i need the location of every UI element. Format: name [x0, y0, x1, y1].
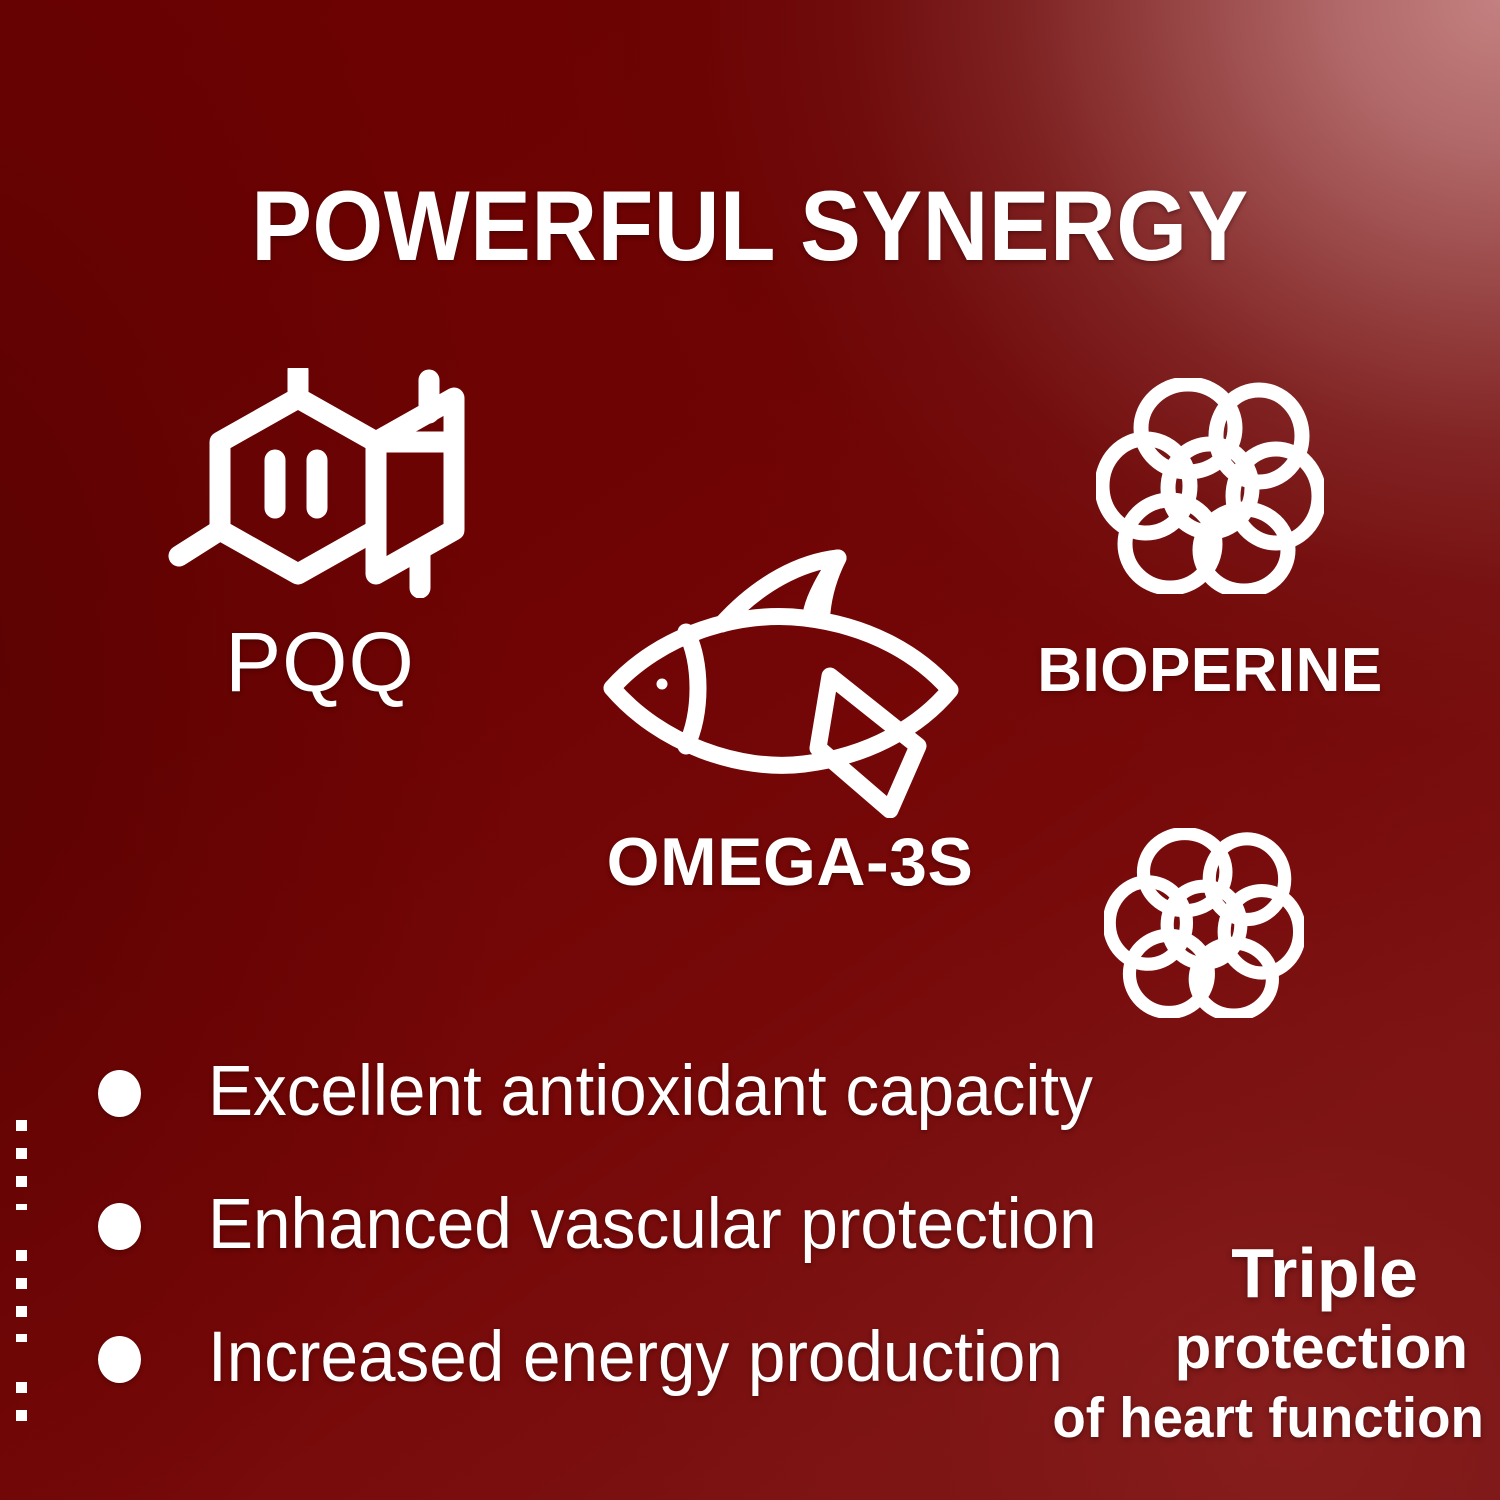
bullet-connector-dotted-line: [16, 1382, 27, 1438]
benefit-text: Enhanced vascular protection: [208, 1187, 1097, 1264]
bullet-dot-icon: [98, 1203, 141, 1250]
ingredient-pqq: PQQ: [120, 368, 520, 704]
benefit-text: Increased energy production: [208, 1320, 1063, 1397]
page-title: POWERFUL SYNERGY: [60, 176, 1440, 275]
benefits-list: Excellent antioxidant capacity Enhanced …: [98, 1042, 1158, 1441]
list-item: Excellent antioxidant capacity: [98, 1042, 1158, 1175]
list-item: Increased energy production: [98, 1308, 1158, 1441]
benefit-text: Excellent antioxidant capacity: [208, 1054, 1093, 1131]
ingredient-label-omega-3s: OMEGA-3S: [560, 828, 1020, 896]
callout-line-1: Triple: [1034, 1238, 1484, 1308]
molecule-icon: [165, 368, 475, 598]
bullet-connector-dotted-line: [16, 1250, 27, 1342]
ingredient-label-pqq: PQQ: [120, 620, 520, 704]
bullet-dot-icon: [98, 1336, 141, 1383]
list-item: Enhanced vascular protection: [98, 1175, 1158, 1308]
ingredient-omega-3s: OMEGA-3S: [560, 548, 1020, 896]
berry-cluster-icon-secondary: [1104, 828, 1304, 1018]
triple-protection-callout: Triple protection of heart function: [1034, 1238, 1484, 1447]
bullet-connector-dotted-line: [16, 1120, 27, 1210]
poster-canvas: POWERFUL SYNERGY PQQ: [0, 0, 1500, 1500]
callout-line-2: protection: [1034, 1318, 1484, 1378]
callout-line-3: of heart function: [1052, 1390, 1484, 1447]
berry-cluster-icon: [1096, 378, 1324, 594]
bullet-dot-icon: [98, 1070, 141, 1117]
ingredient-label-bioperine: BIOPERINE: [990, 640, 1430, 702]
fish-icon: [590, 548, 990, 818]
ingredient-bioperine: BIOPERINE: [990, 378, 1430, 702]
